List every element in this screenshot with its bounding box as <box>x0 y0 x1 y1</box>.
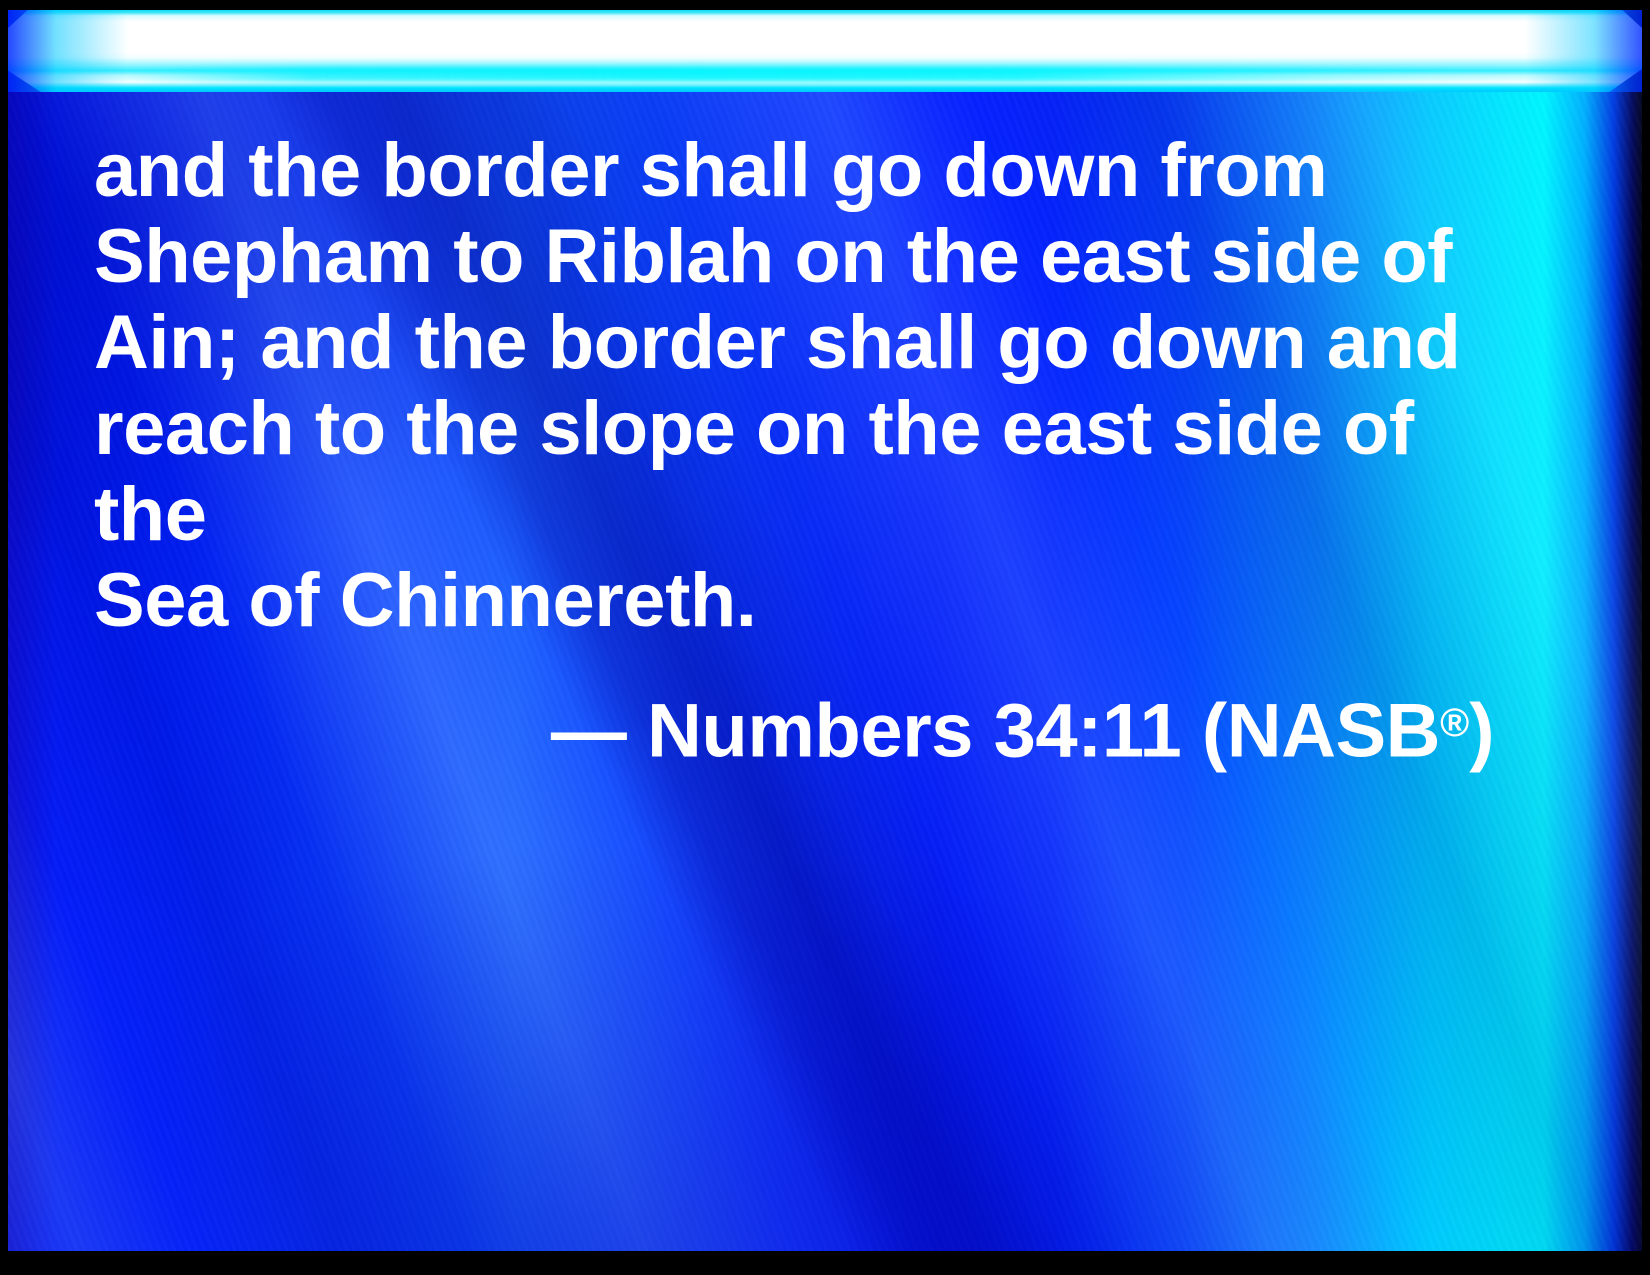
verse-line-2: Shepham to Riblah on the east side of <box>94 214 1494 300</box>
verse-line-5: Sea of Chinnereth. <box>94 558 1494 644</box>
slide-canvas: and the border shall go down from Shepha… <box>8 10 1642 1251</box>
verse-block: and the border shall go down from Shepha… <box>94 128 1494 775</box>
verse-line-3: Ain; and the border shall go down and <box>94 300 1494 386</box>
reference-translation: NASB <box>1227 689 1440 774</box>
reference-close-paren: ) <box>1469 689 1494 774</box>
reference-em-dash: — <box>551 689 627 774</box>
reference-spacer <box>626 689 647 774</box>
verse-line-4: reach to the slope on the east side of t… <box>94 386 1494 558</box>
reference-open-paren: ( <box>1202 689 1227 774</box>
registered-trademark-icon: ® <box>1440 701 1469 745</box>
verse-reference: — Numbers 34:11 (NASB®) <box>94 644 1494 775</box>
scripture-slide: and the border shall go down from Shepha… <box>0 0 1650 1275</box>
verse-line-1: and the border shall go down from <box>94 128 1494 214</box>
reference-citation: Numbers 34:11 <box>647 689 1181 774</box>
reference-spacer-2 <box>1181 689 1202 774</box>
